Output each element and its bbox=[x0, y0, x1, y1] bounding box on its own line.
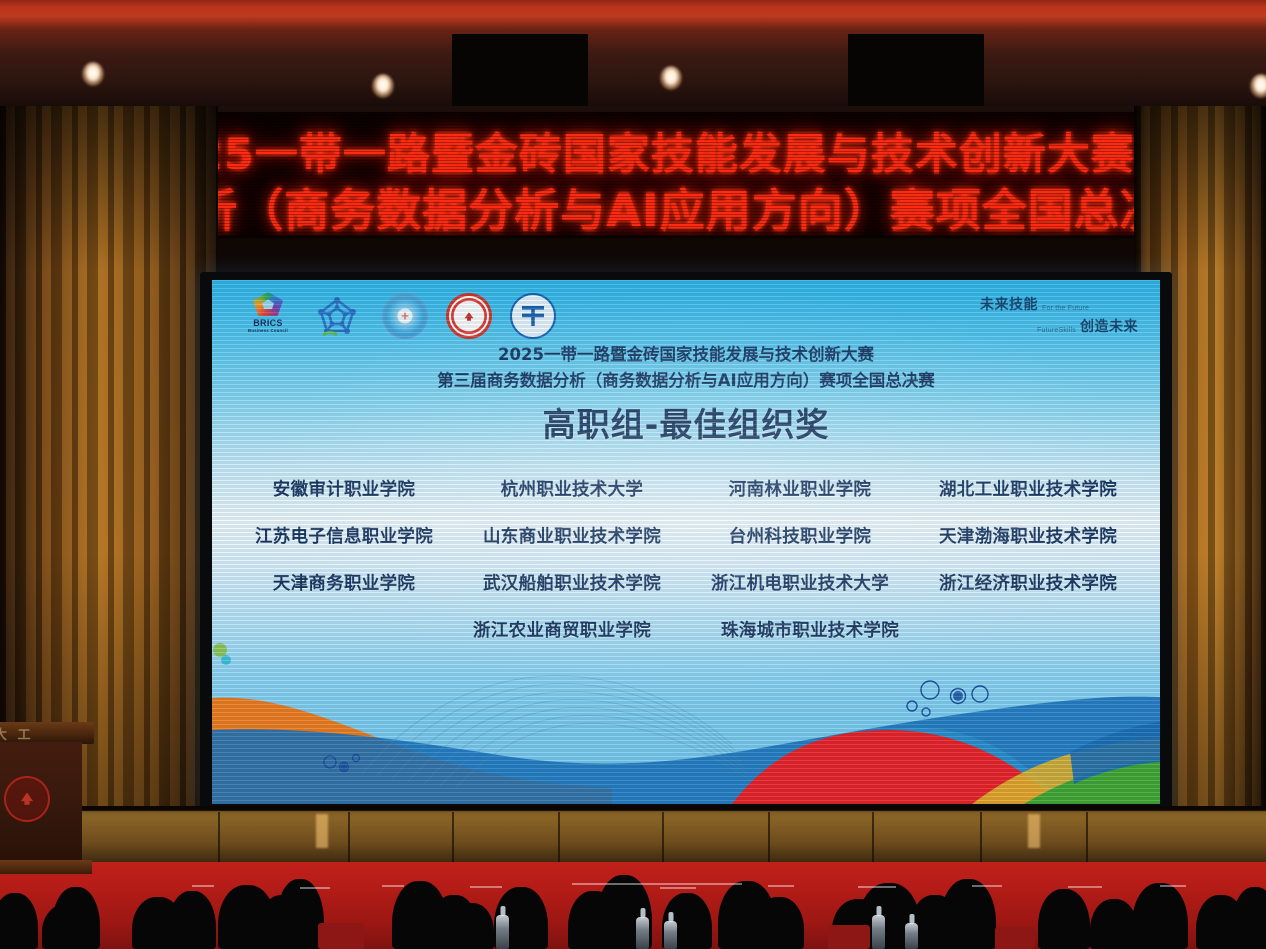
circular-emblem-logo bbox=[382, 293, 428, 339]
winner-name: 浙江农业商贸职业学院 bbox=[473, 617, 651, 642]
brics-business-council-logo: BRICS Business Council bbox=[242, 292, 294, 340]
podium-top-text: 大 工 bbox=[0, 724, 34, 743]
auditorium-hall: 2025一带一路暨金砖国家技能发展与技术创新大赛 务数据分析（商务数据分析与AI… bbox=[0, 0, 1266, 949]
futureskills-en-line1: For the Future bbox=[1042, 305, 1089, 314]
ceiling-panel bbox=[452, 34, 588, 112]
ceiling-spotlight bbox=[82, 62, 104, 86]
podium-school-seal-icon bbox=[4, 776, 50, 822]
futureskills-cn-line1: 未来技能 bbox=[980, 294, 1038, 314]
winner-name: 安徽审计职业学院 bbox=[230, 476, 458, 501]
seal-inner-mark bbox=[458, 306, 480, 328]
led-screen: BRICS Business Council bbox=[212, 280, 1160, 804]
ceiling-spotlight bbox=[1250, 74, 1266, 98]
winner-name: 天津商务职业学院 bbox=[230, 570, 458, 595]
skills-network-star-logo bbox=[312, 292, 364, 340]
winner-name: 河南林业职业学院 bbox=[686, 476, 914, 501]
ceiling-spotlight bbox=[372, 74, 394, 98]
winner-name: 山东商业职业技术学院 bbox=[458, 523, 686, 548]
brics-mark-icon bbox=[253, 292, 283, 316]
water-bottle bbox=[496, 915, 509, 949]
winner-name: 珠海城市职业技术学院 bbox=[721, 617, 899, 642]
water-bottle bbox=[905, 923, 918, 949]
brics-logo-text: BRICS bbox=[253, 318, 283, 328]
winner-name: 武汉船舶职业技术学院 bbox=[458, 570, 686, 595]
winner-name: 江苏电子信息职业学院 bbox=[230, 523, 458, 548]
podium-body bbox=[0, 742, 82, 860]
water-bottle bbox=[872, 915, 885, 949]
winners-row: 江苏电子信息职业学院 山东商业职业技术学院 台州科技职业学院 天津渤海职业技术学… bbox=[230, 523, 1142, 548]
water-bottle bbox=[636, 917, 649, 949]
led-banner-line-1: 2025一带一路暨金砖国家技能发展与技术创新大赛 bbox=[131, 120, 1135, 182]
award-title: 高职组-最佳组织奖 bbox=[212, 398, 1160, 446]
ceiling-panel bbox=[848, 34, 984, 112]
organizer-logos: BRICS Business Council bbox=[242, 292, 556, 340]
winner-name: 台州科技职业学院 bbox=[686, 523, 914, 548]
audience-silhouettes bbox=[0, 868, 1266, 949]
futureskills-logo: 未来技能 For the Future FutureSkills 创造未来 bbox=[980, 294, 1138, 336]
winners-list: 安徽审计职业学院 杭州职业技术大学 河南林业职业学院 湖北工业职业技术学院 江苏… bbox=[230, 476, 1142, 664]
blue-seal-emblem-logo bbox=[510, 293, 556, 339]
star-network-icon bbox=[314, 295, 360, 339]
water-bottle bbox=[664, 921, 677, 949]
winners-row: 安徽审计职业学院 杭州职业技术大学 河南林业职业学院 湖北工业职业技术学院 bbox=[230, 476, 1142, 501]
winner-name: 杭州职业技术大学 bbox=[458, 476, 686, 501]
futureskills-en-line2: FutureSkills bbox=[1037, 327, 1076, 336]
speaker-podium: 大 工 bbox=[0, 722, 90, 872]
ceiling-spotlight bbox=[660, 66, 682, 90]
ceiling bbox=[0, 0, 1266, 112]
red-seal-emblem-logo bbox=[446, 293, 492, 339]
winner-name: 浙江机电职业技术大学 bbox=[686, 570, 914, 595]
winner-name: 天津渤海职业技术学院 bbox=[914, 523, 1142, 548]
screen-title-block: 2025一带一路暨金砖国家技能发展与技术创新大赛 第三届商务数据分析（商务数据分… bbox=[212, 342, 1160, 393]
competition-title-line-1: 2025一带一路暨金砖国家技能发展与技术创新大赛 bbox=[212, 342, 1160, 368]
podium-top: 大 工 bbox=[0, 722, 94, 744]
winners-row: 浙江农业商贸职业学院 珠海城市职业技术学院 bbox=[230, 617, 1142, 642]
stage-front-panel bbox=[0, 806, 1266, 868]
futureskills-cn-line2: 创造未来 bbox=[1080, 316, 1138, 336]
winner-name: 湖北工业职业技术学院 bbox=[914, 476, 1142, 501]
winners-row: 天津商务职业学院 武汉船舶职业技术学院 浙江机电职业技术大学 浙江经济职业技术学… bbox=[230, 570, 1142, 595]
competition-title-line-2: 第三届商务数据分析（商务数据分析与AI应用方向）赛项全国总决赛 bbox=[212, 368, 1160, 394]
brics-logo-subtext: Business Council bbox=[248, 328, 288, 333]
winner-name: 浙江经济职业技术学院 bbox=[914, 570, 1142, 595]
